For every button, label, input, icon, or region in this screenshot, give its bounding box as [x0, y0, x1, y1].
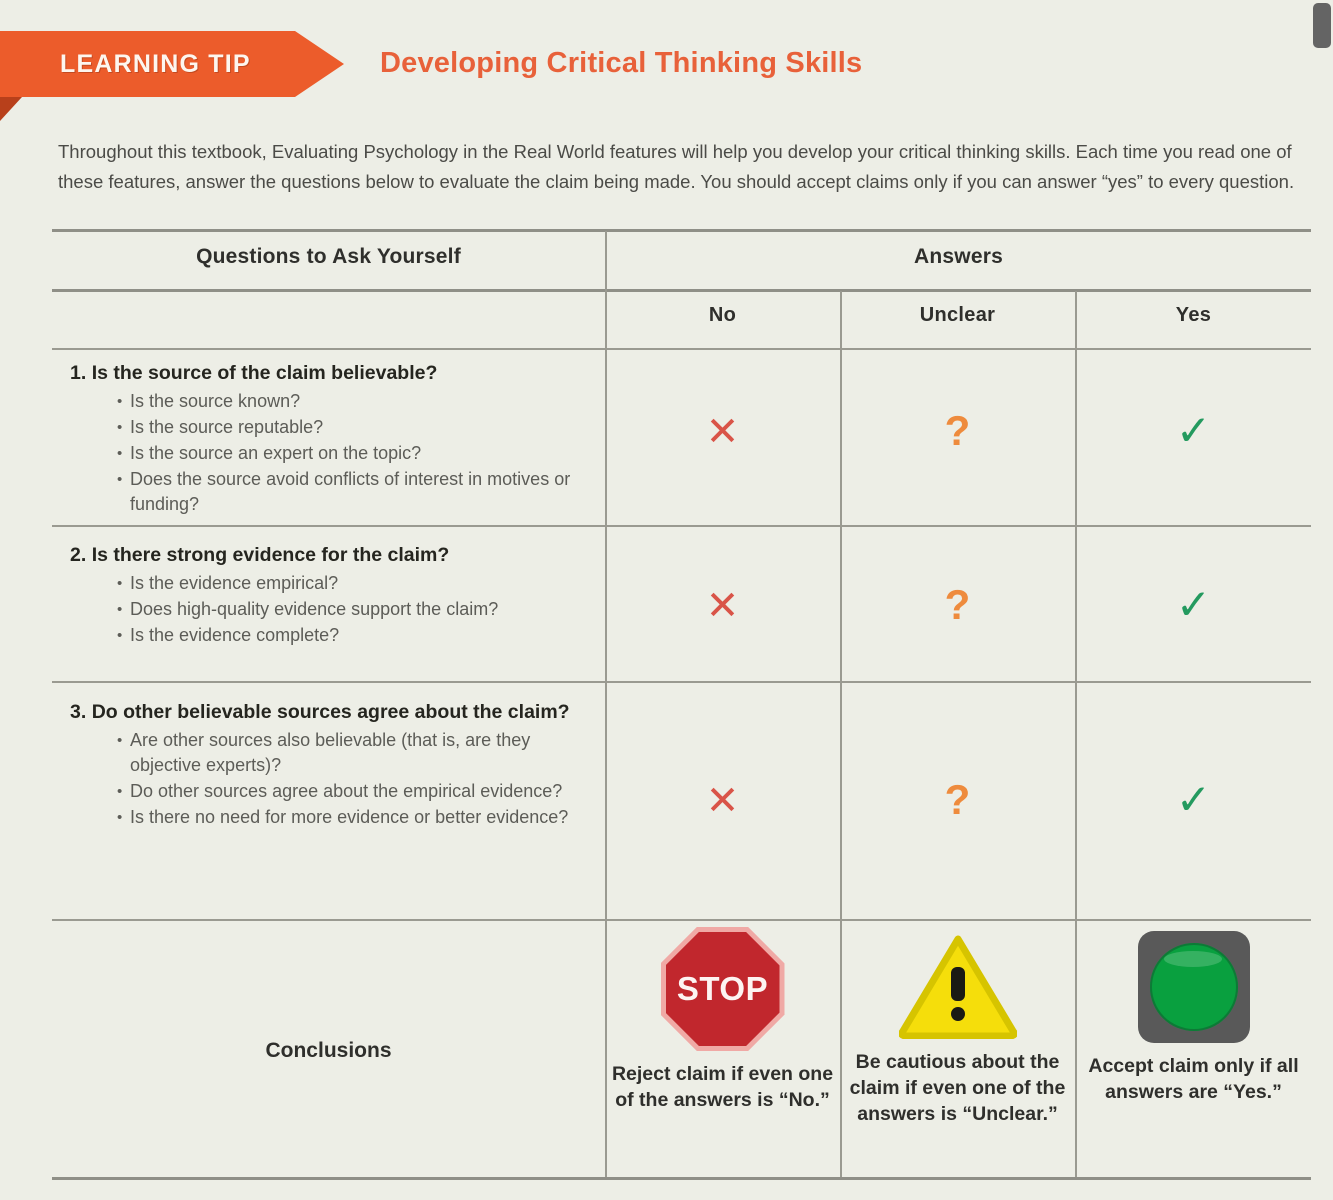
- learning-tip-banner: LEARNING TIP: [0, 31, 344, 97]
- vertical-scrollbar[interactable]: [1311, 0, 1333, 1200]
- column-header-answers: Answers: [605, 245, 1312, 269]
- conclusions-label: Conclusions: [52, 1039, 605, 1063]
- answer-mark-unclear-row2: ?: [840, 584, 1075, 626]
- table-row-question-3: 3. Do other believable sources agree abo…: [70, 699, 600, 831]
- column-header-questions: Questions to Ask Yourself: [52, 245, 605, 269]
- question-2-number: 2.: [70, 544, 86, 566]
- table-rule-row2: [52, 681, 1312, 683]
- list-item: Is the evidence empirical?: [70, 571, 600, 596]
- table-rule-row3: [52, 919, 1312, 921]
- conclusion-text-no: Reject claim if even one of the answers …: [605, 1061, 840, 1113]
- answer-mark-no-row2: ✕: [605, 586, 840, 626]
- conclusion-text-yes: Accept claim only if all answers are “Ye…: [1075, 1053, 1312, 1105]
- table-row-question-1: 1. Is the source of the claim believable…: [70, 360, 600, 518]
- list-item: Do other sources agree about the empiric…: [70, 779, 600, 804]
- conclusion-cell-unclear: Be cautious about the claim if even one …: [840, 927, 1075, 1127]
- table-rule-header: [52, 289, 1312, 292]
- green-light-icon: [1138, 931, 1250, 1043]
- page-root: LEARNING TIP Developing Critical Thinkin…: [0, 0, 1333, 1200]
- answer-mark-yes-row3: ✓: [1075, 779, 1312, 821]
- table-rule-bottom: [52, 1177, 1312, 1180]
- table-rule-subheader: [52, 348, 1312, 350]
- list-item: Does the source avoid conflicts of inter…: [70, 467, 600, 517]
- stop-sign-icon: STOP: [661, 927, 785, 1051]
- list-item: Is the evidence complete?: [70, 623, 600, 648]
- answer-mark-yes-row2: ✓: [1075, 584, 1312, 626]
- question-2-title: 2. Is there strong evidence for the clai…: [70, 542, 600, 568]
- table-row-question-2: 2. Is there strong evidence for the clai…: [70, 542, 600, 649]
- question-3-bullets: Are other sources also believable (that …: [70, 728, 600, 830]
- question-2-text: Is there strong evidence for the claim?: [92, 544, 450, 566]
- conclusion-text-unclear: Be cautious about the claim if even one …: [840, 1049, 1075, 1127]
- answer-mark-yes-row1: ✓: [1075, 410, 1312, 452]
- column-subheader-unclear: Unclear: [840, 304, 1075, 327]
- question-2-bullets: Is the evidence empirical? Does high-qua…: [70, 571, 600, 648]
- list-item: Is there no need for more evidence or be…: [70, 805, 600, 830]
- answer-mark-unclear-row1: ?: [840, 410, 1075, 452]
- critical-thinking-table: Questions to Ask Yourself Answers No Unc…: [52, 229, 1312, 1181]
- banner-label: LEARNING TIP: [0, 50, 251, 79]
- table-rule-top: [52, 229, 1312, 232]
- table-rule-row1: [52, 525, 1312, 527]
- list-item: Does high-quality evidence support the c…: [70, 597, 600, 622]
- answer-mark-no-row1: ✕: [605, 412, 840, 452]
- green-light-lens: [1150, 943, 1238, 1031]
- conclusion-cell-no: STOP Reject claim if even one of the ans…: [605, 927, 840, 1113]
- question-3-text: Do other believable sources agree about …: [92, 701, 570, 723]
- conclusion-cell-yes: Accept claim only if all answers are “Ye…: [1075, 927, 1312, 1105]
- question-1-title: 1. Is the source of the claim believable…: [70, 360, 600, 386]
- banner-ribbon-shape: LEARNING TIP: [0, 31, 344, 97]
- banner-fold-tail: [0, 97, 22, 121]
- answer-mark-unclear-row3: ?: [840, 779, 1075, 821]
- question-3-number: 3.: [70, 701, 86, 723]
- list-item: Is the source reputable?: [70, 415, 600, 440]
- question-1-number: 1.: [70, 362, 86, 384]
- question-3-title: 3. Do other believable sources agree abo…: [70, 699, 600, 725]
- stop-sign-label: STOP: [677, 970, 768, 1008]
- scrollbar-thumb[interactable]: [1313, 3, 1331, 48]
- question-1-bullets: Is the source known? Is the source reput…: [70, 389, 600, 517]
- page-title: Developing Critical Thinking Skills: [380, 47, 862, 80]
- column-subheader-yes: Yes: [1075, 304, 1312, 327]
- column-subheader-no: No: [605, 304, 840, 327]
- question-1-text: Is the source of the claim believable?: [92, 362, 438, 384]
- warning-triangle-icon: [899, 935, 1017, 1039]
- intro-paragraph: Throughout this textbook, Evaluating Psy…: [58, 137, 1323, 197]
- list-item: Are other sources also believable (that …: [70, 728, 600, 778]
- list-item: Is the source known?: [70, 389, 600, 414]
- answer-mark-no-row3: ✕: [605, 781, 840, 821]
- list-item: Is the source an expert on the topic?: [70, 441, 600, 466]
